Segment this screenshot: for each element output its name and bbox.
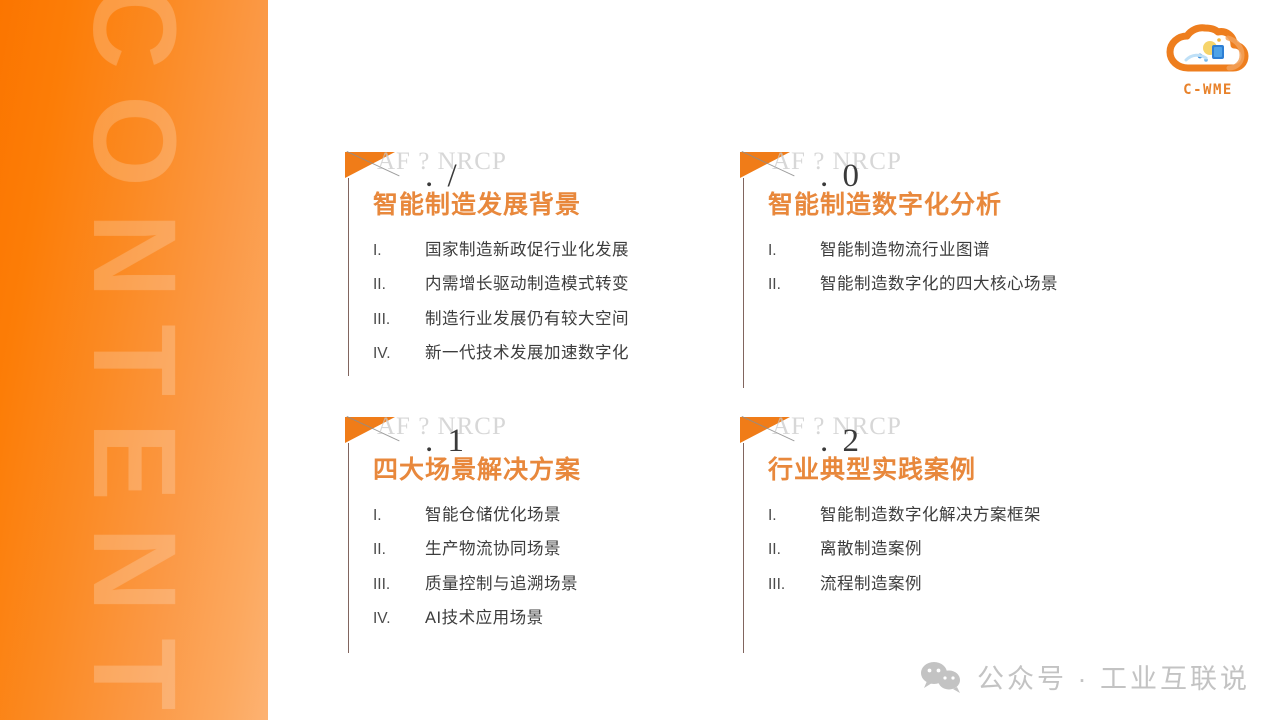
list-item[interactable]: IV. AI技术应用场景	[373, 605, 740, 632]
content-block-3[interactable]: AF ? NRCP . 1 四大场景解决方案 I. 智能仓储优化场景 II. 生…	[345, 415, 740, 639]
list-item-label: 智能仓储优化场景	[425, 502, 561, 529]
block-title-4: 行业典型实践案例	[768, 455, 1085, 486]
list-item-label: 离散制造案例	[820, 536, 922, 563]
list-item-label: 制造行业发展仍有较大空间	[425, 306, 629, 333]
wechat-account-label: 公众号 · 工业互联说	[977, 657, 1250, 696]
list-item-label: 流程制造案例	[820, 571, 922, 598]
cloud-icon	[1156, 18, 1260, 82]
list-item-label: 国家制造新政促行业化发展	[425, 237, 629, 264]
block-marker-2: AF ? NRCP . 0	[740, 150, 1085, 190]
list-item-label: 新一代技术发展加速数字化	[425, 340, 629, 367]
block-marker-3: AF ? NRCP . 1	[345, 415, 740, 455]
list-item-numeral: I.	[373, 503, 425, 529]
sidebar-panel: CONTENT	[0, 0, 268, 720]
list-item-numeral: II.	[768, 272, 820, 298]
brand-logo: C-WME	[1156, 18, 1260, 100]
list-item[interactable]: III. 质量控制与追溯场景	[373, 571, 740, 598]
wechat-footer: 公众号 · 工业互联说	[919, 657, 1250, 696]
list-item[interactable]: IV. 新一代技术发展加速数字化	[373, 340, 740, 367]
list-item-numeral: IV.	[373, 341, 425, 367]
list-item[interactable]: I. 智能制造数字化解决方案框架	[768, 502, 1085, 529]
flag-stem-icon	[348, 178, 349, 376]
list-item-label: AI技术应用场景	[425, 605, 544, 632]
list-item-label: 智能制造数字化的四大核心场景	[820, 271, 1058, 298]
list-item-numeral: I.	[373, 238, 425, 264]
block-items-2: I. 智能制造物流行业图谱 II. 智能制造数字化的四大核心场景	[768, 237, 1085, 298]
block-title-2: 智能制造数字化分析	[768, 190, 1085, 221]
block-marker-4: AF ? NRCP . 2	[740, 415, 1085, 455]
content-block-1[interactable]: AF ? NRCP . / 智能制造发展背景 I. 国家制造新政促行业化发展 I…	[345, 150, 740, 415]
list-item-label: 智能制造数字化解决方案框架	[820, 502, 1041, 529]
list-item-numeral: II.	[373, 272, 425, 298]
list-item-label: 内需增长驱动制造模式转变	[425, 271, 629, 298]
list-item[interactable]: I. 智能制造物流行业图谱	[768, 237, 1085, 264]
flag-stem-icon	[348, 443, 349, 653]
logo-wordmark: C-WME	[1156, 82, 1260, 98]
block-items-1: I. 国家制造新政促行业化发展 II. 内需增长驱动制造模式转变 III. 制造…	[373, 237, 740, 367]
sidebar-title-content: CONTENT	[75, 0, 193, 720]
list-item[interactable]: I. 国家制造新政促行业化发展	[373, 237, 740, 264]
list-item[interactable]: II. 离散制造案例	[768, 536, 1085, 563]
content-block-2[interactable]: AF ? NRCP . 0 智能制造数字化分析 I. 智能制造物流行业图谱 II…	[740, 150, 1085, 415]
list-item[interactable]: III. 流程制造案例	[768, 571, 1085, 598]
list-item[interactable]: I. 智能仓储优化场景	[373, 502, 740, 529]
list-item-label: 质量控制与追溯场景	[425, 571, 578, 598]
list-item-numeral: III.	[373, 307, 425, 333]
wechat-icon	[919, 660, 963, 694]
list-item-label: 智能制造物流行业图谱	[820, 237, 990, 264]
block-items-3: I. 智能仓储优化场景 II. 生产物流协同场景 III. 质量控制与追溯场景 …	[373, 502, 740, 632]
flag-stem-icon	[743, 443, 744, 653]
list-item-numeral: I.	[768, 238, 820, 264]
list-item-numeral: IV.	[373, 606, 425, 632]
list-item-numeral: III.	[768, 572, 820, 598]
slide-canvas: CONTENT C-WME AF ? NRCP . / 智	[0, 0, 1280, 720]
block-number-2: . 0	[820, 158, 862, 195]
list-item[interactable]: II. 内需增长驱动制造模式转变	[373, 271, 740, 298]
block-marker-1: AF ? NRCP . /	[345, 150, 740, 190]
list-item[interactable]: II. 生产物流协同场景	[373, 536, 740, 563]
content-block-4[interactable]: AF ? NRCP . 2 行业典型实践案例 I. 智能制造数字化解决方案框架 …	[740, 415, 1085, 639]
block-items-4: I. 智能制造数字化解决方案框架 II. 离散制造案例 III. 流程制造案例	[768, 502, 1085, 598]
list-item[interactable]: II. 智能制造数字化的四大核心场景	[768, 271, 1085, 298]
flag-stem-icon	[743, 178, 744, 388]
list-item-numeral: II.	[768, 537, 820, 563]
block-number-4: . 2	[820, 423, 862, 460]
list-item[interactable]: III. 制造行业发展仍有较大空间	[373, 306, 740, 333]
list-item-numeral: II.	[373, 537, 425, 563]
block-number-1: . /	[425, 158, 460, 195]
content-grid: AF ? NRCP . / 智能制造发展背景 I. 国家制造新政促行业化发展 I…	[345, 150, 1105, 639]
list-item-numeral: III.	[373, 572, 425, 598]
block-number-3: . 1	[425, 423, 467, 460]
list-item-label: 生产物流协同场景	[425, 536, 561, 563]
list-item-numeral: I.	[768, 503, 820, 529]
